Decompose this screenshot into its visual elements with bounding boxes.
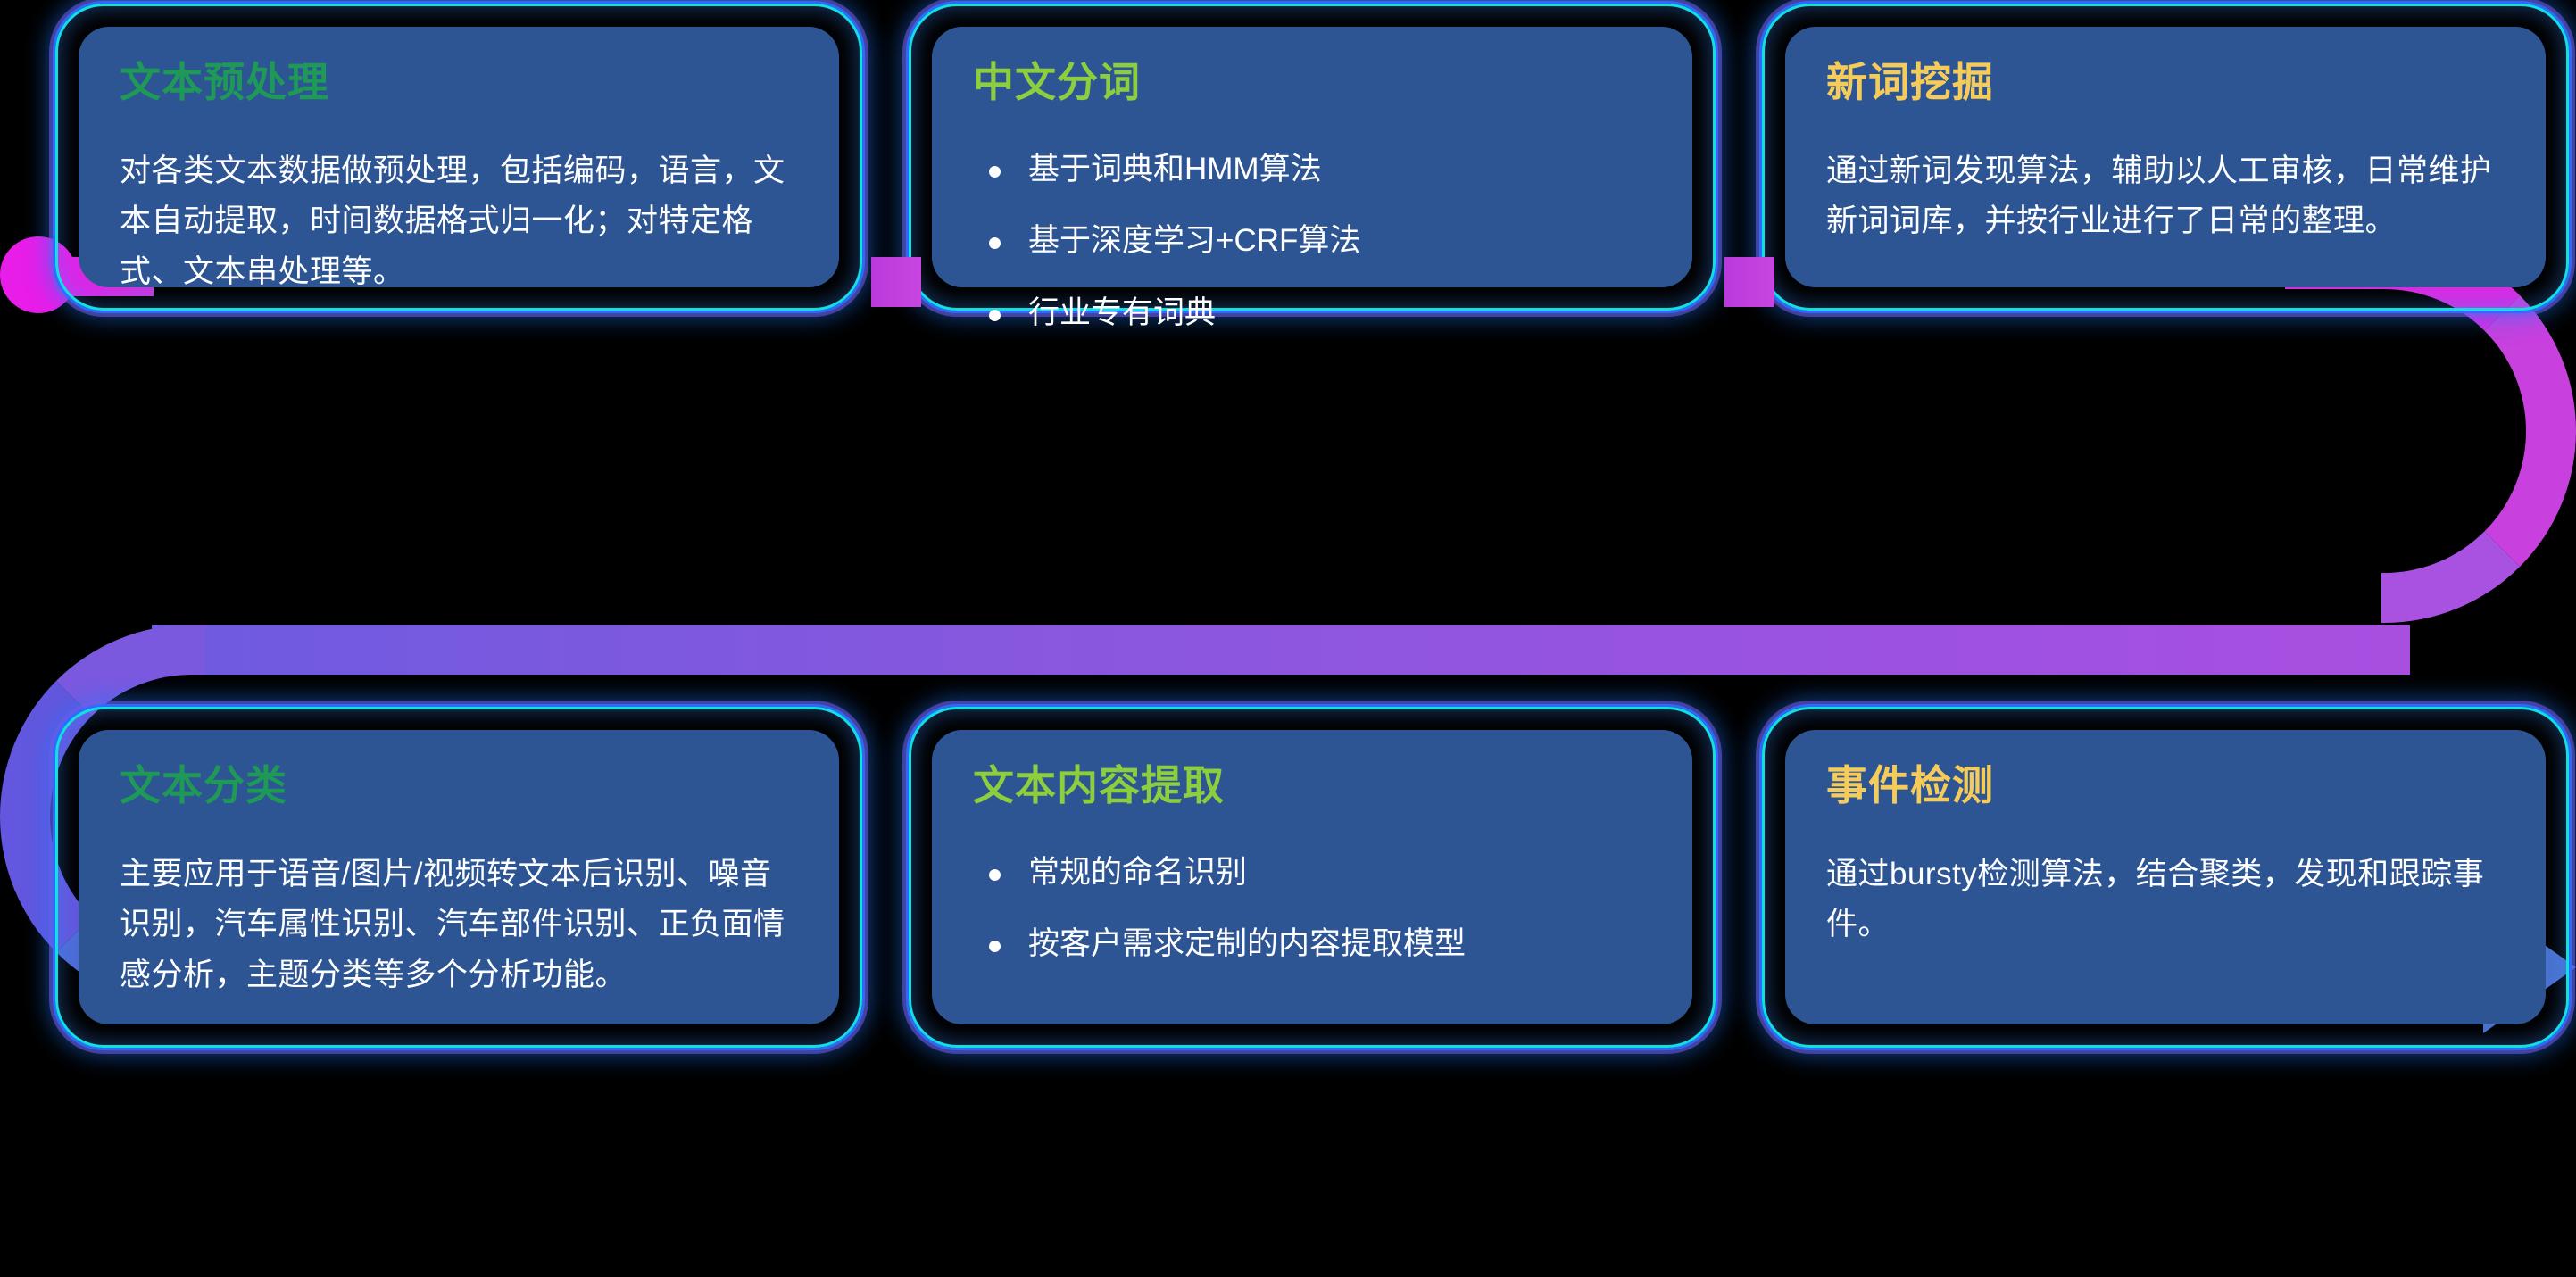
list-item: 常规的命名识别 xyxy=(973,850,1651,897)
card-title: 中文分词 xyxy=(973,61,1651,105)
card-panel: 文本预处理 对各类文本数据做预处理，包括编码，语言，文本自动提取，时间数据格式归… xyxy=(79,27,839,287)
card-chinese-word-segmentation[interactable]: 中文分词 基于词典和HMM算法 基于深度学习+CRF算法 行业专有词典 xyxy=(909,4,1716,311)
card-paragraph: 通过bursty检测算法，结合聚类，发现和跟踪事件。 xyxy=(1826,850,2505,950)
card-panel: 新词挖掘 通过新词发现算法，辅助以人工审核，日常维护新词词库，并按行业进行了日常… xyxy=(1785,27,2546,287)
card-text-preprocessing[interactable]: 文本预处理 对各类文本数据做预处理，包括编码，语言，文本自动提取，时间数据格式归… xyxy=(55,4,862,311)
list-item: 基于深度学习+CRF算法 xyxy=(973,218,1651,265)
card-grid: 文本预处理 对各类文本数据做预处理，包括编码，语言，文本自动提取，时间数据格式归… xyxy=(0,0,2576,1277)
card-text-classification[interactable]: 文本分类 主要应用于语音/图片/视频转文本后识别、噪音识别，汽车属性识别、汽车部… xyxy=(55,707,862,1048)
card-title: 文本内容提取 xyxy=(973,764,1651,808)
list-item: 按客户需求定制的内容提取模型 xyxy=(973,921,1651,968)
card-panel: 中文分词 基于词典和HMM算法 基于深度学习+CRF算法 行业专有词典 xyxy=(932,27,1692,287)
card-title: 文本分类 xyxy=(120,764,798,808)
card-panel: 文本分类 主要应用于语音/图片/视频转文本后识别、噪音识别，汽车属性识别、汽车部… xyxy=(79,730,839,1024)
card-event-detection[interactable]: 事件检测 通过bursty检测算法，结合聚类，发现和跟踪事件。 xyxy=(1762,707,2569,1048)
card-bullet-list: 基于词典和HMM算法 基于深度学习+CRF算法 行业专有词典 xyxy=(973,146,1651,337)
card-text-content-extraction[interactable]: 文本内容提取 常规的命名识别 按客户需求定制的内容提取模型 xyxy=(909,707,1716,1048)
list-item: 行业专有词典 xyxy=(973,290,1651,337)
card-panel: 文本内容提取 常规的命名识别 按客户需求定制的内容提取模型 xyxy=(932,730,1692,1024)
card-title: 事件检测 xyxy=(1826,764,2505,808)
list-item: 基于词典和HMM算法 xyxy=(973,146,1651,194)
card-paragraph: 通过新词发现算法，辅助以人工审核，日常维护新词词库，并按行业进行了日常的整理。 xyxy=(1826,146,2505,247)
card-new-word-discovery[interactable]: 新词挖掘 通过新词发现算法，辅助以人工审核，日常维护新词词库，并按行业进行了日常… xyxy=(1762,4,2569,311)
card-title: 新词挖掘 xyxy=(1826,61,2505,105)
card-bullet-list: 常规的命名识别 按客户需求定制的内容提取模型 xyxy=(973,850,1651,968)
card-title: 文本预处理 xyxy=(120,61,798,105)
card-paragraph: 对各类文本数据做预处理，包括编码，语言，文本自动提取，时间数据格式归一化；对特定… xyxy=(120,146,798,298)
card-paragraph: 主要应用于语音/图片/视频转文本后识别、噪音识别，汽车属性识别、汽车部件识别、正… xyxy=(120,850,798,1001)
card-panel: 事件检测 通过bursty检测算法，结合聚类，发现和跟踪事件。 xyxy=(1785,730,2546,1024)
